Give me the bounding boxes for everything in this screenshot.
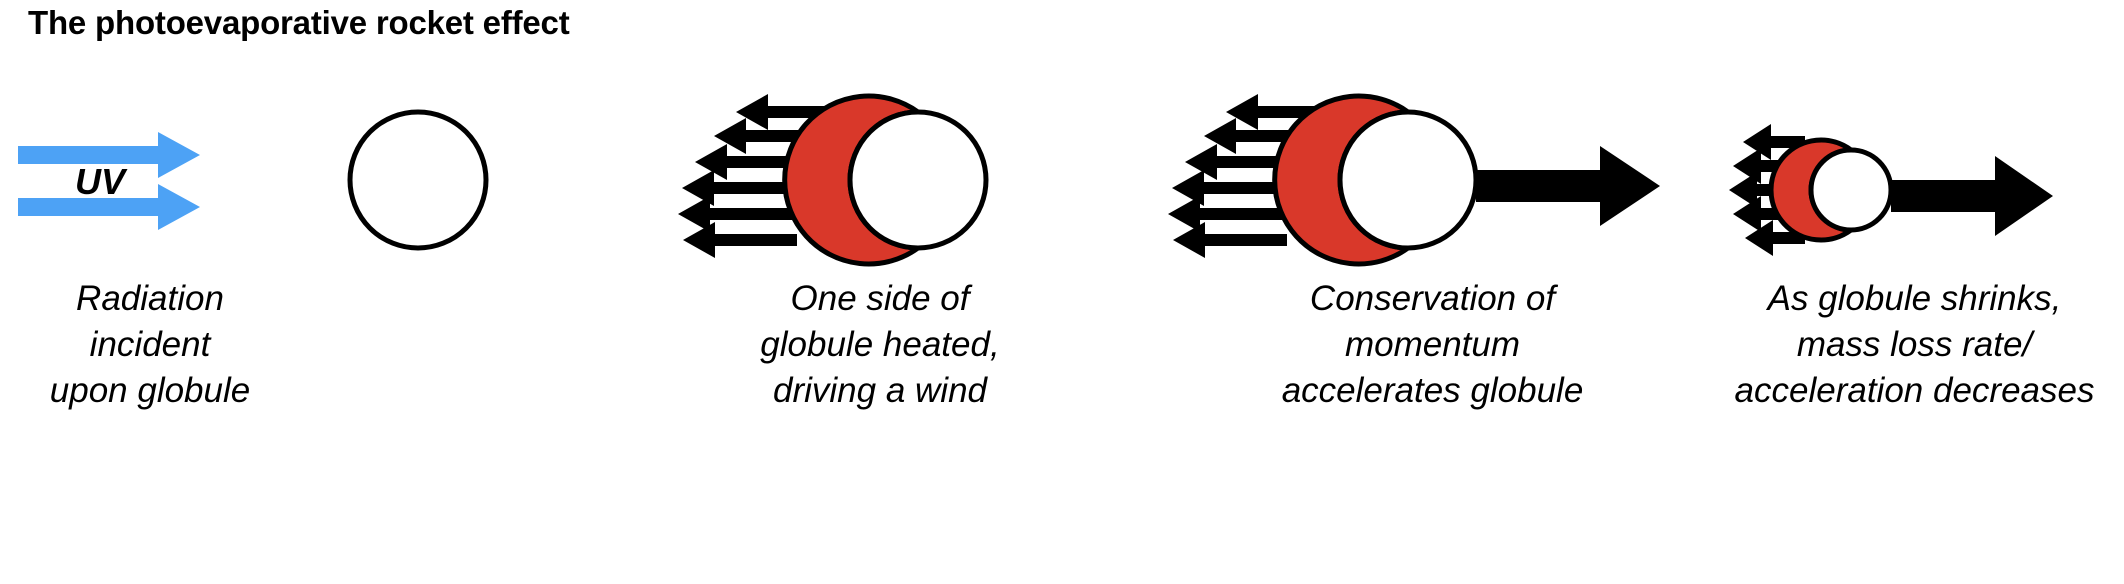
panel-radiation-incident: UV Radiation incident upon globule bbox=[0, 80, 300, 580]
globule-outline bbox=[850, 112, 986, 248]
caption-line: driving a wind bbox=[600, 368, 1160, 414]
figure-title: The photoevaporative rocket effect bbox=[28, 4, 570, 42]
caption-line: upon globule bbox=[0, 368, 300, 414]
heated-globule-graphic bbox=[600, 80, 1160, 270]
caption-line: As globule shrinks, bbox=[1705, 276, 2124, 322]
panel-bare-globule bbox=[300, 80, 600, 580]
wind-arrow-icon bbox=[682, 170, 796, 206]
globule-outline bbox=[1811, 150, 1891, 230]
wind-arrow-icon bbox=[1173, 222, 1287, 258]
wind-arrow-icon bbox=[683, 222, 797, 258]
caption-line: incident bbox=[0, 322, 300, 368]
caption-momentum-acceleration: Conservation of momentum accelerates glo… bbox=[1160, 276, 1705, 414]
figure-root: The photoevaporative rocket effect UV Ra… bbox=[0, 0, 2124, 584]
thrust-arrow-icon bbox=[1891, 156, 2053, 236]
caption-globule-heated: One side of globule heated, driving a wi… bbox=[600, 276, 1160, 414]
caption-line: One side of bbox=[600, 276, 1160, 322]
caption-shrinking-globule: As globule shrinks, mass loss rate/ acce… bbox=[1705, 276, 2124, 414]
panel-globule-heated: One side of globule heated, driving a wi… bbox=[600, 80, 1160, 580]
caption-line: globule heated, bbox=[600, 322, 1160, 368]
caption-radiation-incident: Radiation incident upon globule bbox=[0, 276, 300, 414]
globule-outline bbox=[1340, 112, 1476, 248]
caption-line: momentum bbox=[1160, 322, 1705, 368]
uv-label: UV bbox=[75, 161, 128, 202]
panel-momentum-acceleration: Conservation of momentum accelerates glo… bbox=[1160, 80, 1705, 580]
radiation-graphic: UV bbox=[0, 80, 300, 270]
bare-globule-graphic bbox=[300, 80, 600, 270]
shrinking-globule-graphic bbox=[1705, 80, 2124, 270]
caption-line: Radiation bbox=[0, 276, 300, 322]
wind-arrow-icon bbox=[1172, 170, 1286, 206]
caption-line: acceleration decreases bbox=[1705, 368, 2124, 414]
globule-outline bbox=[350, 112, 486, 248]
wind-arrow-icon bbox=[678, 196, 794, 232]
wind-arrow-icon bbox=[1168, 196, 1284, 232]
caption-line: Conservation of bbox=[1160, 276, 1705, 322]
panel-shrinking-globule: As globule shrinks, mass loss rate/ acce… bbox=[1705, 80, 2124, 580]
caption-line: accelerates globule bbox=[1160, 368, 1705, 414]
caption-line: mass loss rate/ bbox=[1705, 322, 2124, 368]
thrust-arrow-icon bbox=[1476, 146, 1660, 226]
momentum-graphic bbox=[1160, 80, 1705, 270]
